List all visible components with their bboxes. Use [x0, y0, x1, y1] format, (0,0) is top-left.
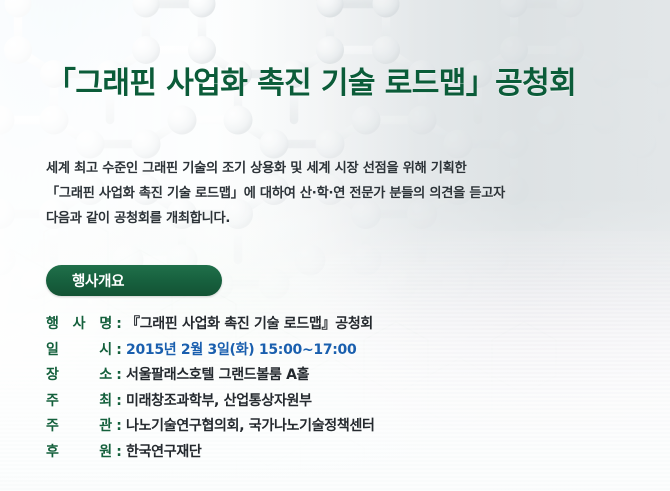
- intro-line-2: 「그래핀 사업화 촉진 기술 로드맵」에 대하여 산·학·연 전문가 분들의 의…: [46, 181, 646, 206]
- detail-label: 주 관: [46, 415, 112, 435]
- detail-colon: :: [112, 316, 126, 332]
- page-title: 「그래핀 사업화 촉진 기술 로드맵」공청회: [46, 58, 576, 102]
- detail-row-sponsor: 후 원 : 한국연구재단: [46, 441, 646, 467]
- poster-content: 「그래핀 사업화 촉진 기술 로드맵」공청회 세계 최고 수준인 그래핀 기술의…: [0, 0, 670, 491]
- event-detail-list: 행 사 명 : 『그래핀 사업화 촉진 기술 로드맵』공청회 일 시 : 201…: [46, 313, 646, 466]
- detail-label: 일 시: [46, 339, 112, 359]
- detail-value: 나노기술연구협의회, 국가나노기술정책센터: [126, 415, 375, 435]
- detail-label: 후 원: [46, 441, 112, 461]
- detail-value: 미래창조과학부, 산업통상자원부: [126, 390, 312, 410]
- detail-colon: :: [112, 367, 126, 383]
- section-badge-label: 행사개요: [46, 270, 124, 291]
- section-badge-overview: 행사개요: [46, 265, 222, 296]
- detail-label: 주 최: [46, 390, 112, 410]
- detail-colon: :: [112, 444, 126, 460]
- detail-row-event-name: 행 사 명 : 『그래핀 사업화 촉진 기술 로드맵』공청회: [46, 313, 646, 339]
- detail-colon: :: [112, 342, 126, 358]
- intro-line-1: 세계 최고 수준인 그래핀 기술의 조기 상용화 및 세계 시장 선점을 위해 …: [46, 156, 646, 181]
- detail-row-venue: 장 소 : 서울팔래스호텔 그랜드볼룸 A홀: [46, 364, 646, 390]
- detail-label: 장 소: [46, 364, 112, 384]
- detail-label: 행 사 명: [46, 313, 112, 333]
- detail-colon: :: [112, 418, 126, 434]
- detail-value: 2015년 2월 3일(화) 15:00~17:00: [126, 339, 356, 359]
- detail-value: 서울팔래스호텔 그랜드볼룸 A홀: [126, 364, 309, 384]
- event-poster: 「그래핀 사업화 촉진 기술 로드맵」공청회 세계 최고 수준인 그래핀 기술의…: [0, 0, 670, 491]
- detail-row-organizer: 주 관 : 나노기술연구협의회, 국가나노기술정책센터: [46, 415, 646, 441]
- intro-line-3: 다음과 같이 공청회를 개최합니다.: [46, 206, 646, 231]
- intro-paragraph: 세계 최고 수준인 그래핀 기술의 조기 상용화 및 세계 시장 선점을 위해 …: [46, 156, 646, 231]
- detail-row-host: 주 최 : 미래창조과학부, 산업통상자원부: [46, 390, 646, 416]
- detail-colon: :: [112, 393, 126, 409]
- detail-value: 한국연구재단: [126, 441, 201, 461]
- detail-value: 『그래핀 사업화 촉진 기술 로드맵』공청회: [126, 313, 373, 333]
- detail-row-datetime: 일 시 : 2015년 2월 3일(화) 15:00~17:00: [46, 339, 646, 365]
